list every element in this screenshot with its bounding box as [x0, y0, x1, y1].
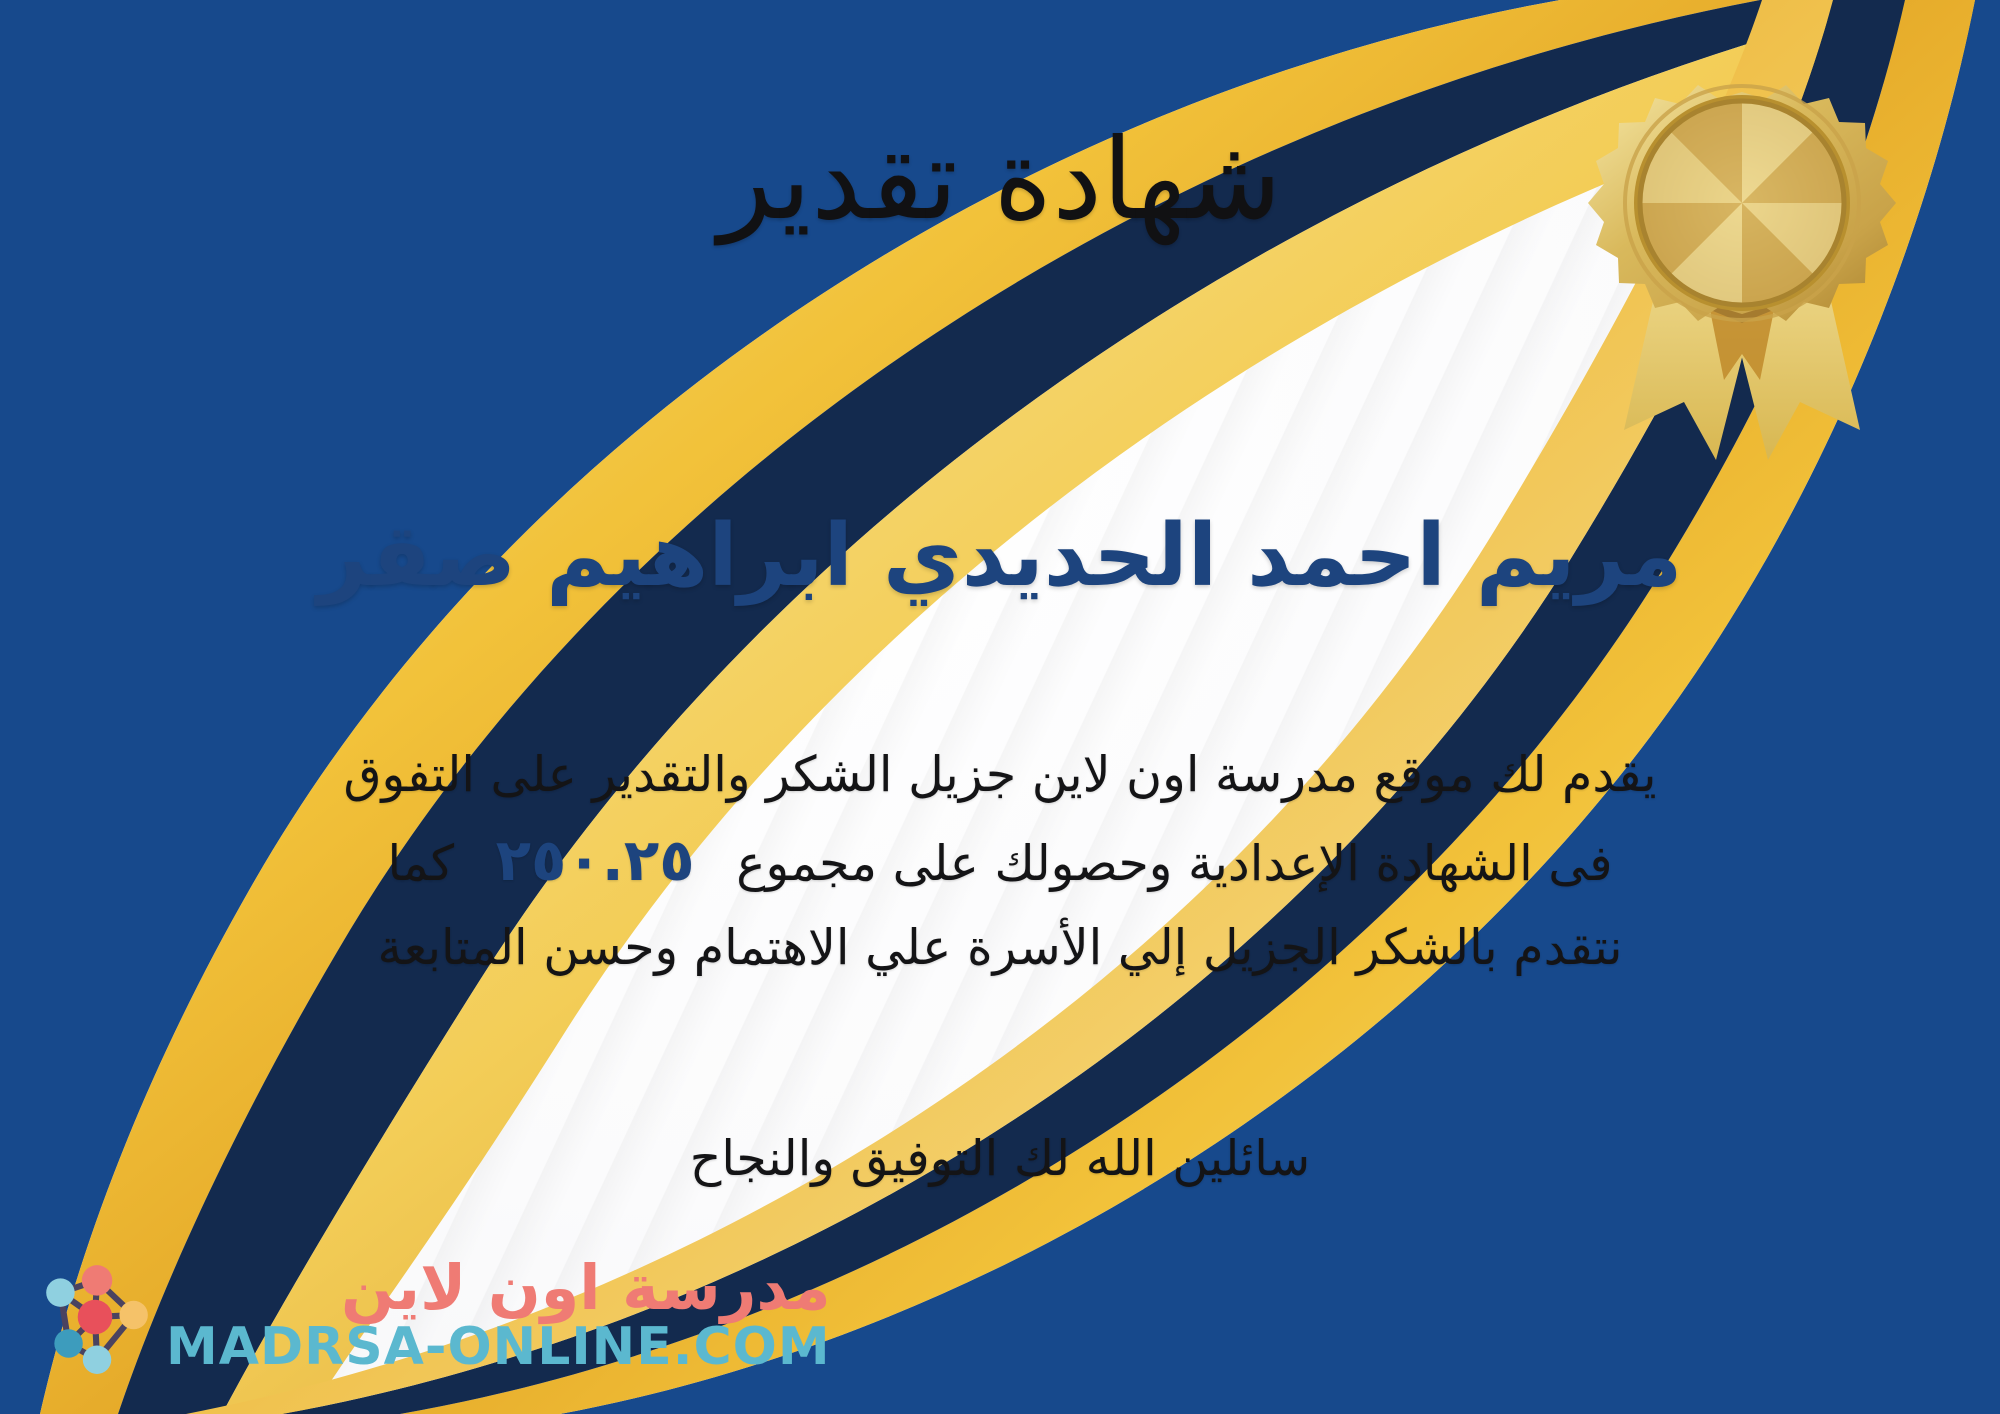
brand-website: MADRSA-ONLINE.COM — [166, 1320, 831, 1375]
brand-logo-text: مدرسة اون لاين MADRSA-ONLINE.COM — [166, 1255, 831, 1375]
certificate-body: يقدم لك موقع مدرسة اون لاين جزيل الشكر و… — [60, 735, 1940, 988]
recipient-name: مريم احمد الحديدي ابراهيم صقر — [0, 505, 2000, 608]
brand-name-arabic: مدرسة اون لاين — [341, 1255, 831, 1320]
certificate-content: شهادة تقدير مريم احمد الحديدي ابراهيم صق… — [0, 0, 2000, 1414]
network-nodes-icon — [34, 1254, 156, 1376]
certificate-title: شهادة تقدير — [0, 118, 2000, 243]
body-line-2-prefix: فى الشهادة الإعدادية وحصولك على مجموع — [736, 835, 1612, 892]
certificate-canvas: شهادة تقدير مريم احمد الحديدي ابراهيم صق… — [0, 0, 2000, 1414]
closing-line: سائلين الله لك التوفيق والنجاح — [0, 1130, 2000, 1187]
body-line-2: فى الشهادة الإعدادية وحصولك على مجموع ٢٥… — [60, 814, 1940, 908]
body-line-2-suffix: كما — [387, 835, 454, 892]
score-value: ٢٥٠.٢٥ — [470, 826, 721, 894]
brand-logo[interactable]: مدرسة اون لاين MADRSA-ONLINE.COM — [34, 1254, 831, 1376]
body-line-3: نتقدم بالشكر الجزيل إلي الأسرة علي الاهت… — [60, 908, 1940, 987]
body-line-1: يقدم لك موقع مدرسة اون لاين جزيل الشكر و… — [60, 735, 1940, 814]
